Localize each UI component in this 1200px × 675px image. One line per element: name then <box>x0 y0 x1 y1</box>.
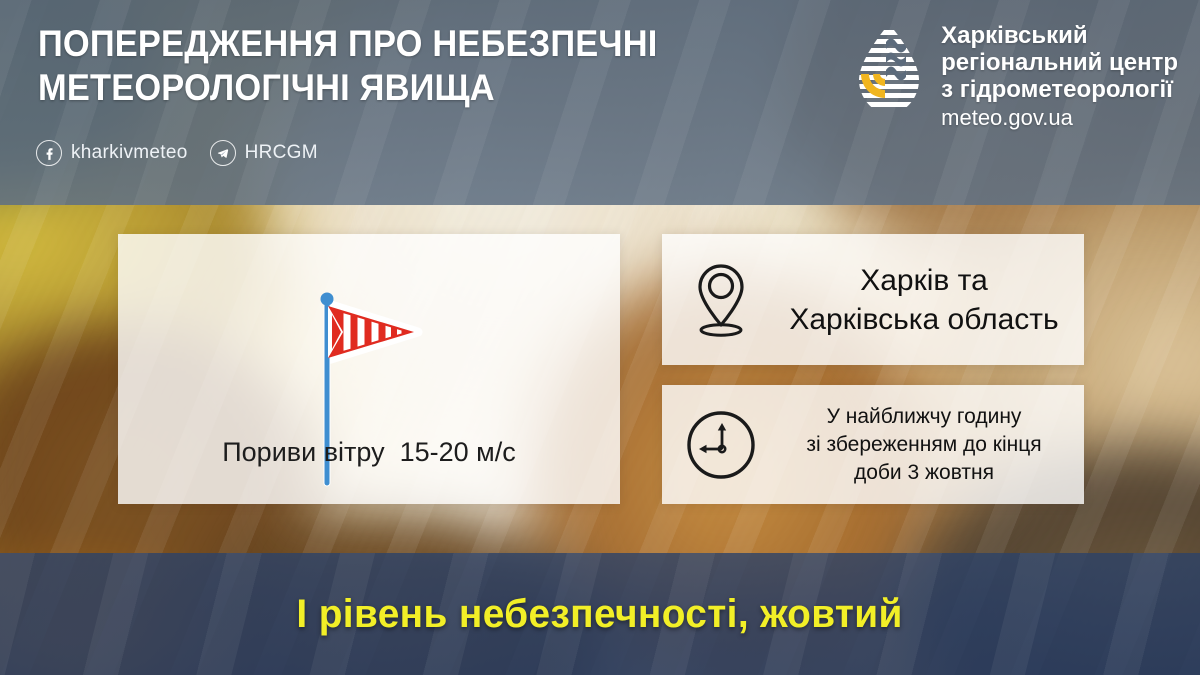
location-line-1: Харків та <box>780 261 1068 300</box>
danger-level-text: І рівень небезпечності, жовтий <box>297 592 903 637</box>
wind-caption: Пориви вітру 15-20 м/с <box>118 437 620 468</box>
logo-line-2: регіональний центр <box>941 49 1178 76</box>
organization-logo: Харківський регіональний центр з гідроме… <box>853 22 1178 131</box>
social-link-facebook[interactable]: kharkivmeteo <box>36 140 188 166</box>
danger-level-banner: І рівень небезпечності, жовтий <box>0 553 1200 675</box>
clock-icon <box>662 408 780 482</box>
weather-warning-poster: ПОПЕРЕДЖЕННЯ ПРО НЕБЕЗПЕЧНІ МЕТЕОРОЛОГІЧ… <box>0 0 1200 675</box>
social-links: kharkivmeteo HRCGM <box>36 140 318 166</box>
time-text: У найближчу годину зі збереженням до кін… <box>780 403 1084 487</box>
time-line-2: зі збереженням до кінця <box>780 431 1068 459</box>
wind-card: Пориви вітру 15-20 м/с <box>118 234 620 504</box>
social-link-telegram[interactable]: HRCGM <box>210 140 318 166</box>
social-label-facebook: kharkivmeteo <box>71 142 188 164</box>
location-line-2: Харківська область <box>780 300 1068 339</box>
water-drop-logo-icon <box>853 22 925 118</box>
organization-logo-text: Харківський регіональний центр з гідроме… <box>941 22 1178 131</box>
logo-line-3: з гідрометеорології <box>941 76 1178 103</box>
map-pin-icon <box>662 261 780 339</box>
logo-line-1: Харківський <box>941 22 1178 49</box>
page-title: ПОПЕРЕДЖЕННЯ ПРО НЕБЕЗПЕЧНІ МЕТЕОРОЛОГІЧ… <box>38 22 708 110</box>
header-band: ПОПЕРЕДЖЕННЯ ПРО НЕБЕЗПЕЧНІ МЕТЕОРОЛОГІЧ… <box>0 0 1200 205</box>
facebook-icon <box>36 140 62 166</box>
time-line-3: доби 3 жовтня <box>780 459 1068 487</box>
location-card: Харків та Харківська область <box>662 234 1084 365</box>
location-text: Харків та Харківська область <box>780 261 1084 339</box>
page-title-line-1: ПОПЕРЕДЖЕННЯ ПРО НЕБЕЗПЕЧНІ <box>38 22 708 66</box>
logo-website-url[interactable]: meteo.gov.ua <box>941 104 1178 131</box>
page-title-line-2: МЕТЕОРОЛОГІЧНІ ЯВИЩА <box>38 66 708 110</box>
time-line-1: У найближчу годину <box>780 403 1068 431</box>
time-card: У найближчу годину зі збереженням до кін… <box>662 385 1084 504</box>
social-label-telegram: HRCGM <box>245 142 318 164</box>
telegram-icon <box>210 140 236 166</box>
